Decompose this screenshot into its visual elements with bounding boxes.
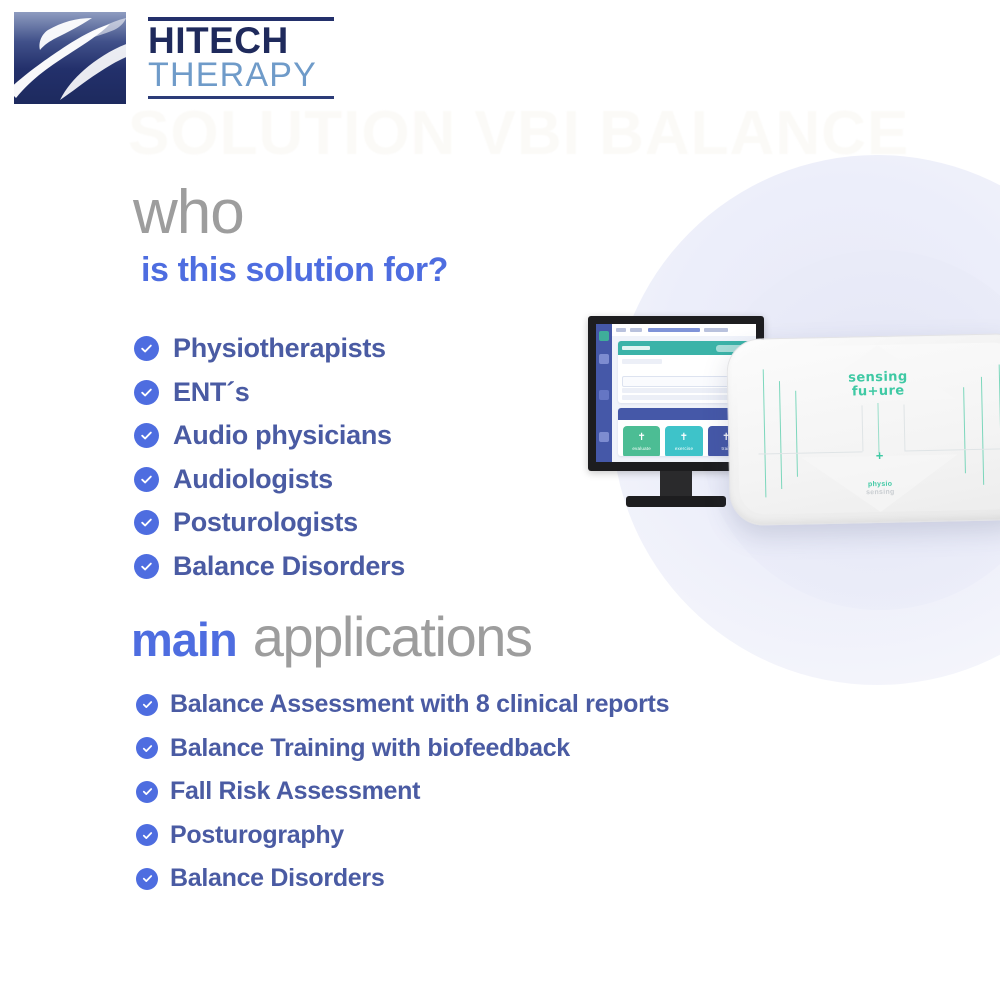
hitech-swoosh-mark-icon: [14, 12, 126, 104]
list-item: Physiotherapists: [134, 327, 405, 371]
heading-is-this-solution-for: is this solution for?: [141, 251, 448, 290]
heading-main: main: [131, 612, 237, 667]
list-item-label: Balance Disorders: [173, 551, 405, 582]
list-item: ENT´s: [134, 371, 405, 415]
list-item: Posturologists: [134, 501, 405, 545]
balance-plate-device: sensing fu+ure + physio sensing: [726, 333, 1000, 526]
list-item-label: Posturography: [170, 821, 344, 850]
sidebar-reports-icon: [599, 390, 609, 400]
plate-accent-line: [779, 381, 783, 489]
list-item-label: Balance Assessment with 8 clinical repor…: [170, 690, 669, 719]
list-item-label: Fall Risk Assessment: [170, 777, 420, 806]
list-item: Posturography: [136, 814, 669, 858]
sidebar-settings-icon: [599, 432, 609, 442]
heading-who: who: [133, 184, 448, 243]
check-circle-icon: [134, 380, 159, 405]
check-circle-icon: [134, 467, 159, 492]
tile-label: evaluate: [632, 446, 651, 451]
plate-guide-line: [904, 448, 1000, 451]
product-photo: ✝ evaluate ✝ exercise ✝ train: [560, 300, 1000, 580]
list-item-label: Posturologists: [173, 507, 358, 538]
tile-exercise[interactable]: ✝ exercise: [665, 426, 702, 456]
check-circle-icon: [134, 423, 159, 448]
list-item-label: ENT´s: [173, 377, 250, 408]
applications-list: Balance Assessment with 8 clinical repor…: [136, 683, 669, 901]
person-icon: ✝: [680, 433, 688, 443]
plate-brand-line2: fu+ure: [848, 384, 908, 399]
plate-guide-line: [758, 451, 862, 454]
plate-guide-line: [903, 404, 905, 450]
person-icon: ✝: [637, 433, 645, 443]
list-item-label: Audiologists: [173, 464, 333, 495]
ghost-headline: SOLUTION VBI BALANCE: [128, 98, 909, 169]
topbar-menu-icon: [616, 328, 626, 332]
monitor-neck: [660, 471, 692, 499]
plate-accent-line: [763, 369, 767, 497]
check-circle-icon: [136, 824, 158, 846]
plate-accent-line: [795, 391, 798, 477]
balance-plate-surface: sensing fu+ure + physio sensing: [736, 342, 1000, 515]
applications-heading-block: main applications: [131, 604, 532, 669]
plate-logo-line2: sensing: [866, 489, 895, 498]
plate-accent-line: [877, 403, 879, 453]
topbar-extra: [704, 328, 728, 332]
plate-center-marker: +: [876, 449, 884, 462]
logo-text-hitech: HITECH: [148, 23, 334, 59]
topbar-label: [630, 328, 642, 332]
software-topbar: [612, 324, 756, 336]
list-item-label: Balance Disorders: [170, 864, 384, 893]
list-item: Audiologists: [134, 458, 405, 502]
patient-card-title: [622, 346, 650, 350]
check-circle-icon: [136, 781, 158, 803]
check-circle-icon: [136, 737, 158, 759]
sidebar-home-icon: [599, 331, 609, 341]
check-circle-icon: [134, 336, 159, 361]
brand-wordmark: HITECH THERAPY: [144, 12, 338, 104]
topbar-breadcrumb: [648, 328, 700, 332]
list-item-label: Audio physicians: [173, 420, 392, 451]
tile-label: exercise: [675, 446, 693, 451]
list-item-label: Balance Training with biofeedback: [170, 734, 570, 763]
physiosensing-logo: physio sensing: [866, 481, 895, 498]
list-item: Balance Assessment with 8 clinical repor…: [136, 683, 669, 727]
check-circle-icon: [136, 694, 158, 716]
tile-evaluate[interactable]: ✝ evaluate: [623, 426, 660, 456]
plate-brand-text: sensing fu+ure: [848, 370, 908, 399]
who-heading-block: who is this solution for?: [133, 184, 448, 290]
patient-card-header: [618, 341, 750, 355]
list-item: Balance Disorders: [136, 857, 669, 901]
plate-accent-line: [963, 387, 966, 473]
check-circle-icon: [134, 554, 159, 579]
list-item: Balance Disorders: [134, 545, 405, 589]
logo-text-therapy: THERAPY: [148, 58, 334, 93]
monitor-base: [626, 496, 726, 507]
list-item: Fall Risk Assessment: [136, 770, 669, 814]
check-circle-icon: [136, 868, 158, 890]
plate-accent-line: [981, 377, 985, 485]
heading-applications: applications: [253, 604, 532, 669]
check-circle-icon: [134, 510, 159, 535]
list-item: Balance Training with biofeedback: [136, 727, 669, 771]
audience-list: Physiotherapists ENT´s Audio physicians …: [134, 327, 405, 588]
logo-rule-bottom: [148, 96, 334, 99]
list-item: Audio physicians: [134, 414, 405, 458]
sidebar-patients-icon: [599, 354, 609, 364]
brand-logo: HITECH THERAPY: [14, 12, 338, 104]
software-sidebar: [596, 324, 612, 462]
list-item-label: Physiotherapists: [173, 333, 386, 364]
plate-guide-line: [861, 405, 863, 451]
card-subtitle: [622, 359, 662, 364]
